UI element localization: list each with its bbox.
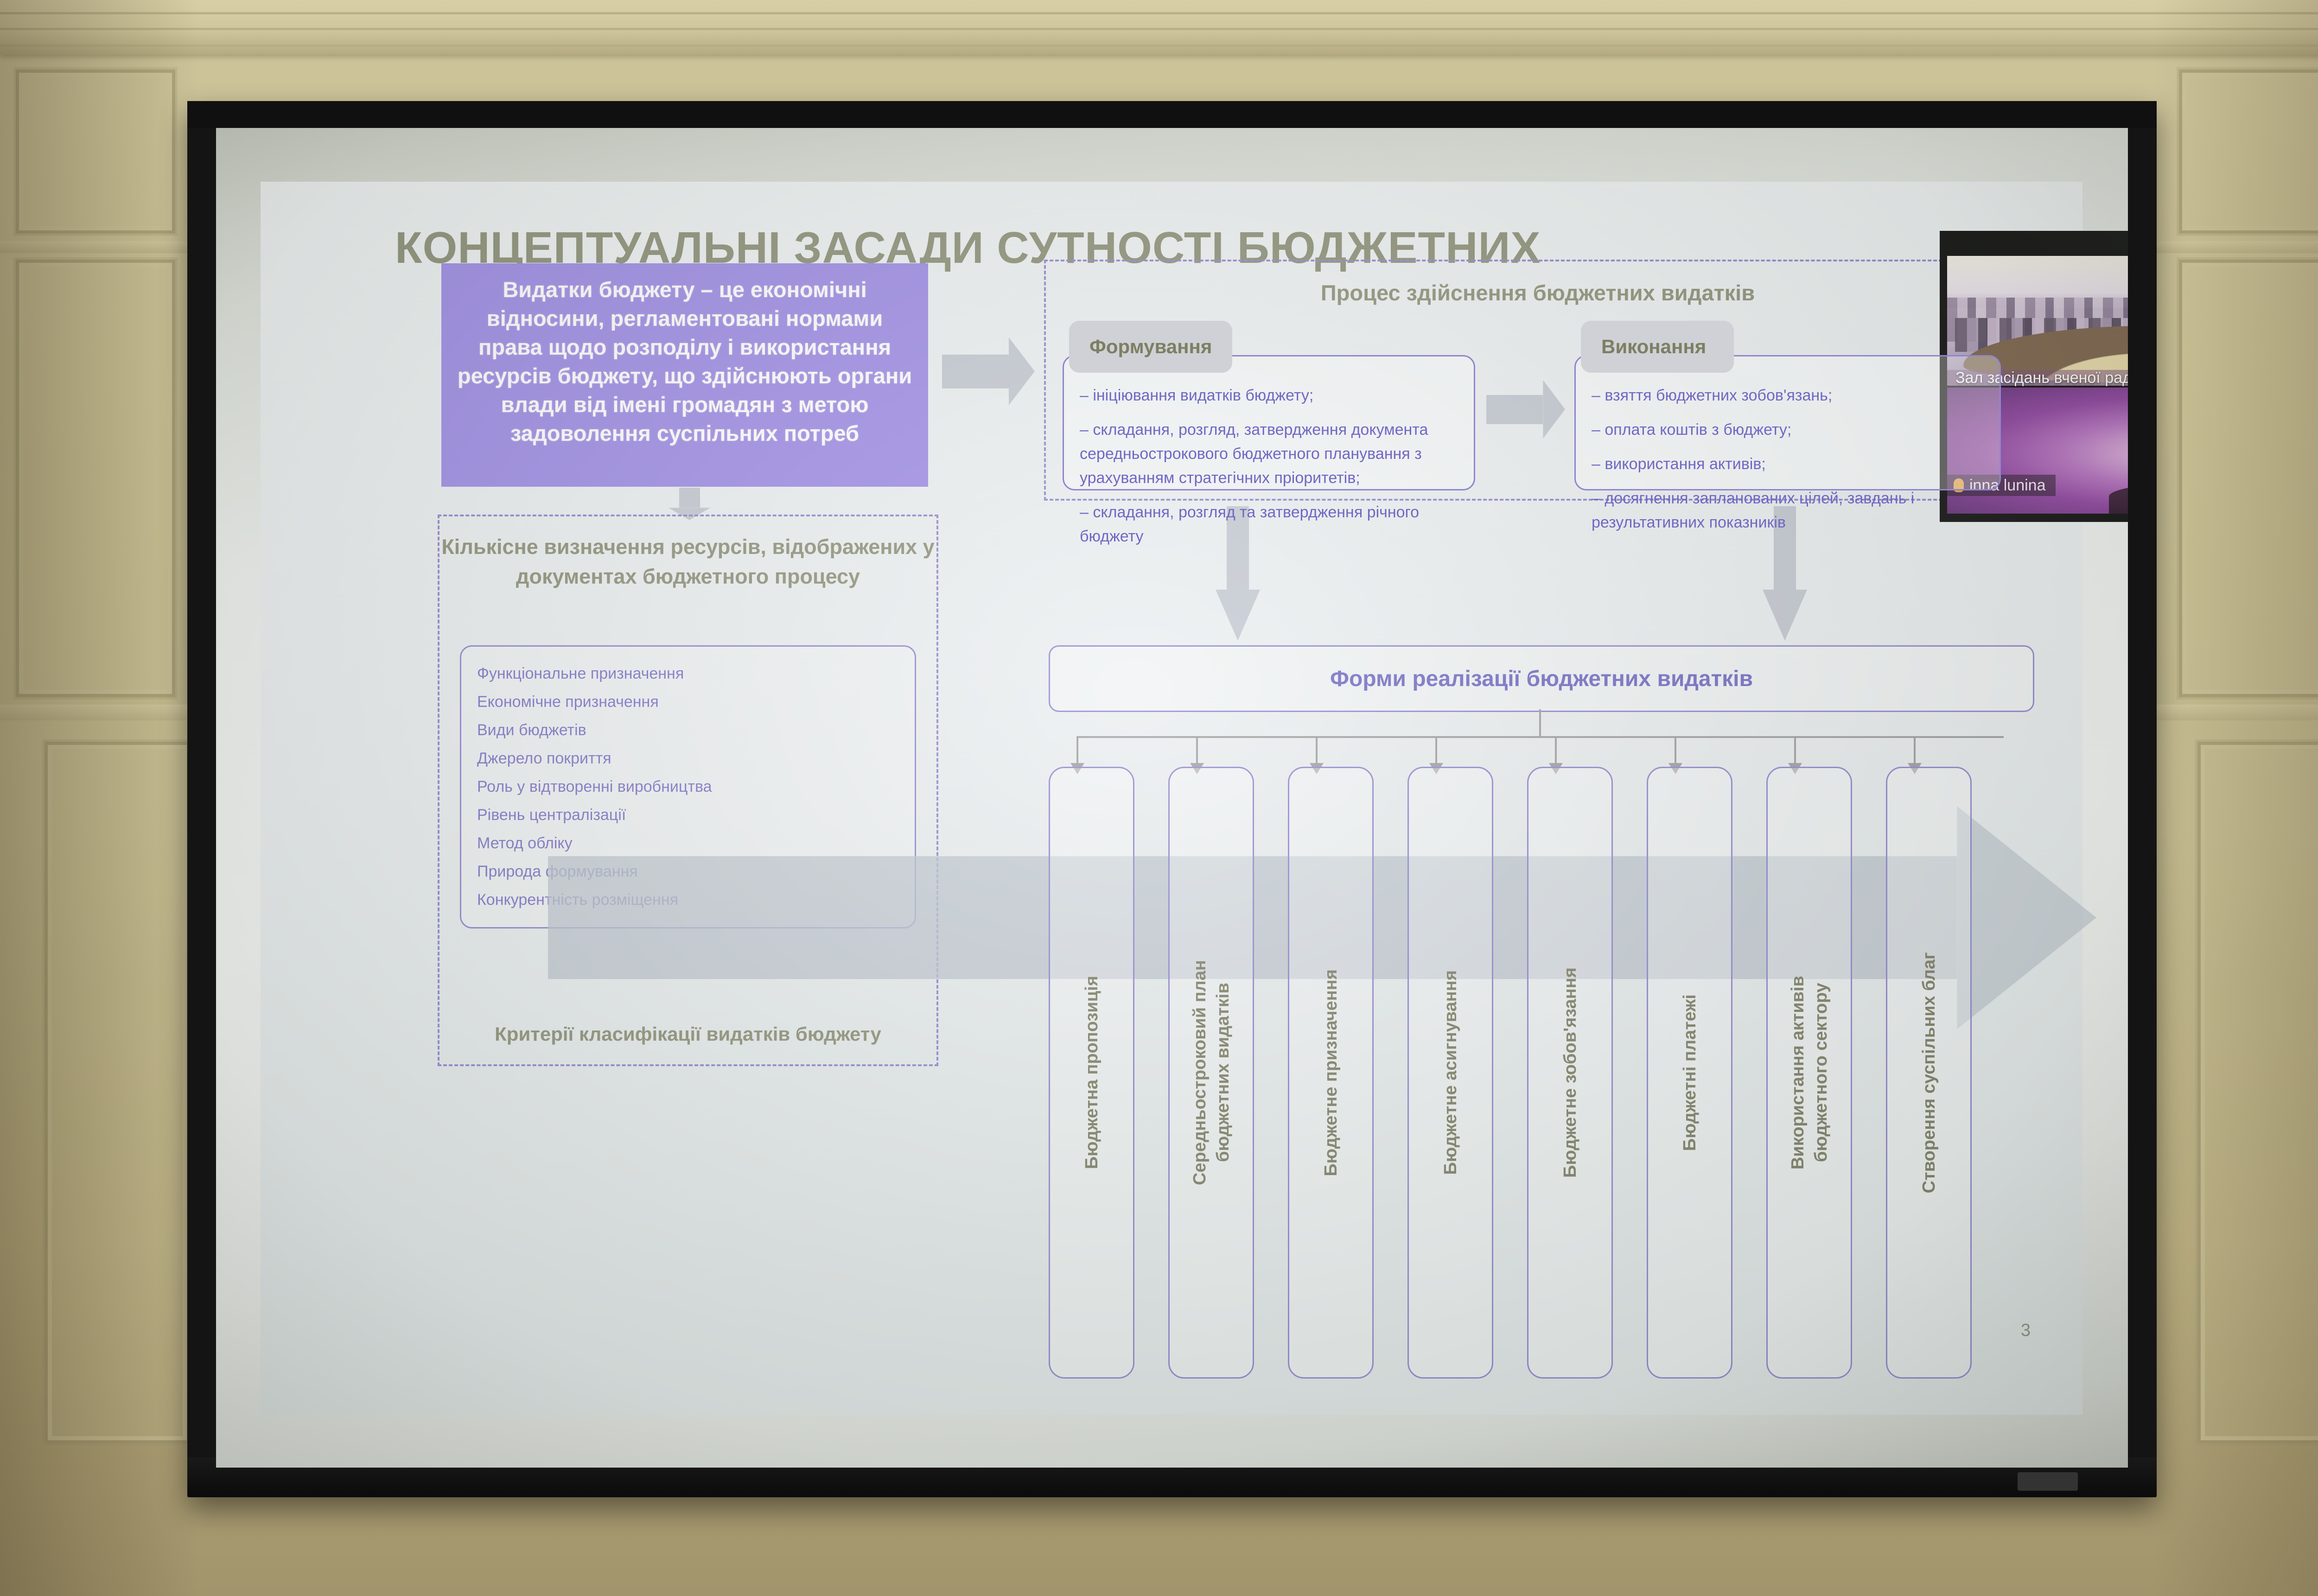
- form-column-label: Середньостроковий план бюджетних видаткі…: [1188, 960, 1235, 1185]
- form-column[interactable]: Бюджетна пропозиція: [1049, 767, 1134, 1379]
- criteria-item: Джерело покриття: [477, 744, 899, 773]
- stage-item: – складання, розгляд, затвердження докум…: [1080, 418, 1461, 490]
- stage-item: – взяття бюджетних зобов'язань;: [1592, 383, 1987, 407]
- criteria-item: Роль у відтворенні виробництва: [477, 773, 899, 801]
- definition-box: Видатки бюджету – це економічні відносин…: [441, 263, 928, 487]
- form-column[interactable]: Середньостроковий план бюджетних видаткі…: [1168, 767, 1254, 1379]
- form-column-label: Бюджетне призначення: [1319, 969, 1343, 1176]
- form-column[interactable]: Використання активів бюджетного сектору: [1766, 767, 1852, 1379]
- stage-execution-tab: Виконання: [1581, 321, 1734, 373]
- form-column-label: Використання активів бюджетного сектору: [1786, 976, 1833, 1170]
- form-column[interactable]: Створення суспільних благ: [1886, 767, 1972, 1379]
- criteria-item: Види бюджетів: [477, 716, 899, 744]
- criteria-caption: Критерії класифікації видатків бюджету: [439, 1021, 936, 1048]
- form-column-label: Створення суспільних благ: [1917, 952, 1941, 1193]
- criteria-item: Рівень централізації: [477, 801, 899, 829]
- stage-item: – досягнення запланованих цілей, завдань…: [1592, 486, 1987, 534]
- slide-page-number: 3: [2021, 1321, 2031, 1341]
- form-column[interactable]: Бюджетне асигнування: [1407, 767, 1493, 1379]
- criteria-item: Економічне призначення: [477, 688, 899, 716]
- criteria-heading: Кількісне визначення ресурсів, відображе…: [439, 532, 936, 591]
- forms-banner-label: Форми реалізації бюджетних видатків: [1330, 666, 1753, 692]
- ceiling-cornice: [0, 0, 2318, 55]
- presentation-slide: КОНЦЕПТУАЛЬНІ ЗАСАДИ СУТНОСТІ БЮДЖЕТНИХ …: [261, 182, 2082, 1415]
- form-column[interactable]: Бюджетне призначення: [1288, 767, 1374, 1379]
- stage-item: – оплата коштів з бюджету;: [1592, 418, 1987, 442]
- forms-banner: Форми реалізації бюджетних видатків: [1049, 645, 2034, 712]
- definition-term: Видатки бюджету: [503, 277, 694, 302]
- wall-shadow-right: [2153, 0, 2318, 1596]
- form-column-label: Бюджетне зобов'язання: [1559, 967, 1582, 1178]
- form-column-label: Бюджетне асигнування: [1439, 970, 1462, 1175]
- stage-execution: Виконання – взяття бюджетних зобов'язань…: [1574, 321, 2001, 490]
- process-container: Процес здійснення бюджетних видатків Фор…: [1044, 260, 2031, 501]
- stage-item: – використання активів;: [1592, 452, 1987, 476]
- form-column-label: Бюджетні платежі: [1678, 994, 1701, 1151]
- wall-shadow-left: [0, 0, 199, 1596]
- criteria-container: Кількісне визначення ресурсів, відображе…: [438, 515, 938, 1066]
- stage-formation: Формування – ініціювання видатків бюджет…: [1063, 321, 1475, 490]
- arrow-formation-to-execution: [1486, 380, 1565, 439]
- projected-surface: КОНЦЕПТУАЛЬНІ ЗАСАДИ СУТНОСТІ БЮДЖЕТНИХ …: [216, 128, 2128, 1468]
- stage-item: – ініціювання видатків бюджету;: [1080, 383, 1461, 407]
- stage-execution-body: – взяття бюджетних зобов'язань; – оплата…: [1574, 355, 2001, 490]
- screen-pull-handle[interactable]: [2018, 1472, 2078, 1491]
- criteria-item: Метод обліку: [477, 829, 899, 858]
- connector-tree: [1049, 709, 2031, 765]
- stage-item: – складання, розгляд та затвердження річ…: [1080, 500, 1461, 548]
- arrow-definition-to-process: [942, 337, 1035, 405]
- stage-formation-tab: Формування: [1069, 321, 1232, 373]
- form-column-label: Бюджетна пропозиція: [1080, 976, 1103, 1169]
- form-column[interactable]: Бюджетні платежі: [1647, 767, 1732, 1379]
- criteria-item: Функціональне призначення: [477, 660, 899, 688]
- form-column[interactable]: Бюджетне зобов'язання: [1527, 767, 1613, 1379]
- screen-top-bar: [187, 101, 2157, 128]
- projection-screen: КОНЦЕПТУАЛЬНІ ЗАСАДИ СУТНОСТІ БЮДЖЕТНИХ …: [187, 101, 2157, 1497]
- conference-room-wall: КОНЦЕПТУАЛЬНІ ЗАСАДИ СУТНОСТІ БЮДЖЕТНИХ …: [0, 0, 2318, 1596]
- stage-formation-body: – ініціювання видатків бюджету; – склада…: [1063, 355, 1475, 490]
- process-heading: Процес здійснення бюджетних видатків: [1046, 280, 2030, 305]
- definition-text: – це економічні відносини, регламентован…: [458, 277, 912, 445]
- forms-columns: Бюджетна пропозиція Середньостроковий пл…: [1049, 767, 2031, 1379]
